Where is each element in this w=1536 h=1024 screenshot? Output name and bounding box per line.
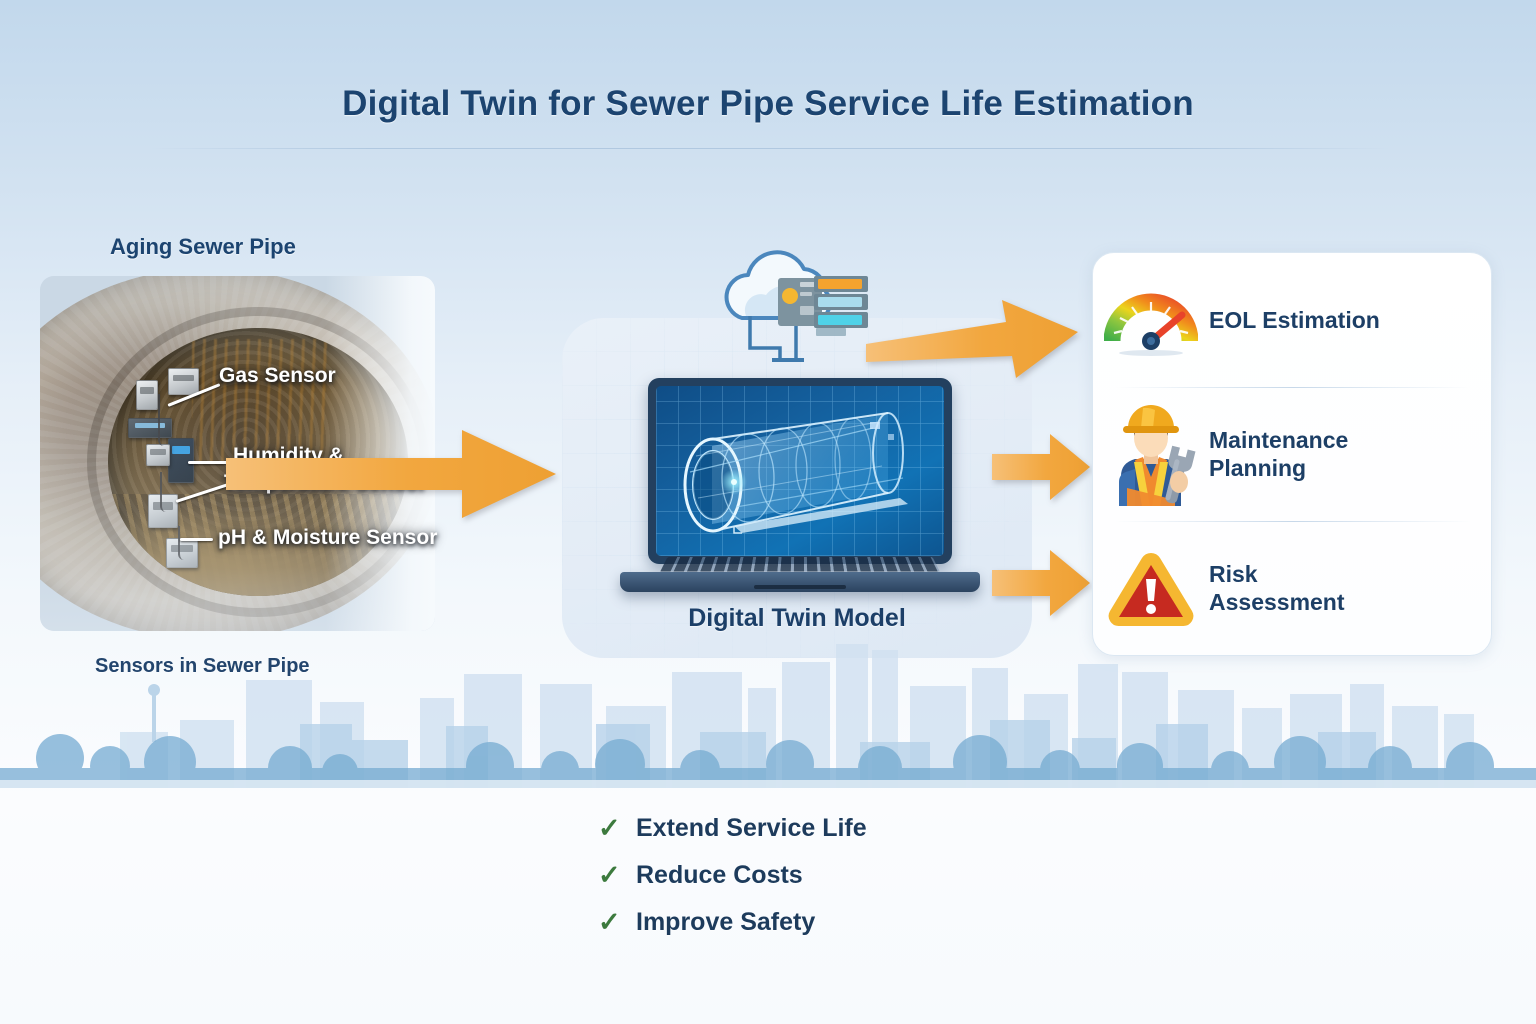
outcome-label: Risk Assessment: [1209, 560, 1345, 616]
outcome-label: Maintenance Planning: [1209, 426, 1348, 482]
benefit-label: Improve Safety: [636, 908, 815, 937]
outcomes-panel: EOL Estimation: [1092, 252, 1492, 656]
maintenance-label: Maintenance: [1209, 427, 1348, 453]
benefit-label: Reduce Costs: [636, 861, 803, 890]
title-divider: [150, 148, 1390, 149]
warning-triangle-icon: [1093, 547, 1209, 629]
check-icon: ✓: [598, 815, 636, 842]
assessment-label: Assessment: [1209, 589, 1345, 615]
gauge-icon: [1093, 283, 1209, 357]
arrow-model-to-risk: [992, 548, 1092, 618]
laptop-screen: [656, 386, 944, 556]
list-item: ✓ Improve Safety: [598, 899, 867, 946]
outcome-eol-estimation[interactable]: EOL Estimation: [1093, 253, 1493, 387]
ph-moisture-sensor-label: pH & Moisture Sensor: [218, 526, 437, 550]
humidity-temperature-sensor-leader-line: [188, 461, 228, 464]
left-section-heading: Aging Sewer Pipe: [110, 234, 296, 260]
sensor-cable: [160, 472, 174, 512]
check-icon: ✓: [598, 862, 636, 889]
gas-sensor-label: Gas Sensor: [219, 364, 336, 388]
ph-moisture-sensor-leader-line: [180, 538, 213, 541]
outcome-maintenance-planning[interactable]: Maintenance Planning: [1093, 387, 1493, 521]
junction-box-icon: [136, 380, 158, 410]
list-item: ✓ Extend Service Life: [598, 805, 867, 852]
outcome-label: EOL Estimation: [1209, 306, 1380, 334]
check-icon: ✓: [598, 909, 636, 936]
worker-wrench-icon: [1093, 402, 1209, 506]
arrow-model-to-maintenance: [992, 432, 1092, 502]
list-item: ✓ Reduce Costs: [598, 852, 867, 899]
planning-label: Planning: [1209, 455, 1306, 481]
laptop-icon: [620, 378, 980, 598]
sensor-cable: [178, 526, 190, 560]
laptop-lid: [648, 378, 952, 564]
arrow-pipe-to-model: [226, 424, 566, 524]
benefit-label: Extend Service Life: [636, 814, 867, 843]
gas-sensor-icon: [168, 368, 199, 395]
risk-label: Risk: [1209, 561, 1258, 587]
city-skyline-illustration: [0, 628, 1536, 788]
arrow-model-to-eol: [866, 300, 1084, 380]
laptop-keyboard: [660, 557, 940, 572]
laptop-base: [620, 572, 980, 592]
pipe-wireframe-icon: [656, 386, 944, 556]
page-title: Digital Twin for Sewer Pipe Service Life…: [0, 84, 1536, 124]
clamp-bracket-icon: [146, 444, 170, 466]
benefits-list: ✓ Extend Service Life ✓ Reduce Costs ✓ I…: [598, 805, 867, 946]
cloud-server-icon: [706, 248, 876, 368]
eol-estimation-label: EOL Estimation: [1209, 307, 1380, 333]
infographic-canvas: Digital Twin for Sewer Pipe Service Life…: [0, 0, 1536, 1024]
